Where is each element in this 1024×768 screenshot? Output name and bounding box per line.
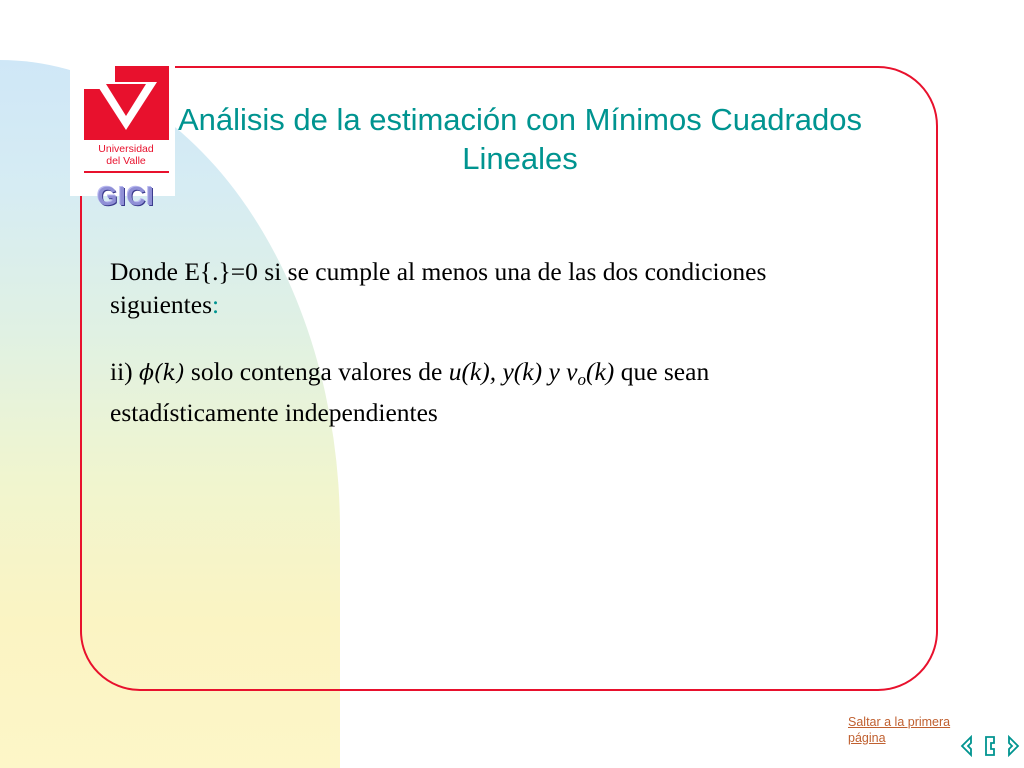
stop-arrow-icon[interactable] — [982, 735, 998, 757]
signal-argument: (k) — [586, 357, 614, 386]
group-acronym: GICI — [80, 181, 172, 212]
phi-symbol: ϕ(k) — [139, 361, 185, 386]
slide-body: Donde E{.}=0 si se cumple al menos una d… — [110, 255, 880, 443]
paragraph-condition-intro: Donde E{.}=0 si se cumple al menos una d… — [110, 255, 880, 321]
paragraph-2-text-a: solo contenga valores de — [185, 357, 449, 386]
logo-line-2: del Valle — [80, 155, 172, 167]
next-arrow-icon[interactable] — [1000, 735, 1020, 757]
inverted-triangle-mark-icon — [84, 66, 169, 140]
slide: Universidad del Valle GICI Análisis de l… — [0, 0, 1024, 768]
logo-divider — [84, 171, 169, 173]
skip-to-first-page-link[interactable]: Saltar a la primera página — [848, 714, 968, 746]
skip-link-line-2: página — [848, 731, 886, 745]
paragraph-1-colon: : — [212, 290, 219, 319]
paragraph-1-text: Donde E{.}=0 si se cumple al menos una d… — [110, 257, 766, 319]
navigation-arrows[interactable] — [960, 735, 1020, 757]
signal-subscript: o — [578, 370, 587, 389]
previous-arrow-icon[interactable] — [960, 735, 980, 757]
logo-text: Universidad del Valle — [80, 143, 172, 167]
signal-variables: u(k), y(k) y v — [449, 357, 578, 386]
skip-link-line-1: Saltar a la primera — [848, 715, 950, 729]
paragraph-condition-ii: ii) ϕ(k) solo contenga valores de u(k), … — [110, 355, 880, 429]
slide-title: Análisis de la estimación con Mínimos Cu… — [170, 100, 870, 178]
university-logo: Universidad del Valle GICI — [80, 66, 172, 212]
item-marker-ii: ii) — [110, 357, 139, 386]
paragraph-spacer — [110, 335, 880, 355]
logo-line-1: Universidad — [80, 143, 172, 155]
